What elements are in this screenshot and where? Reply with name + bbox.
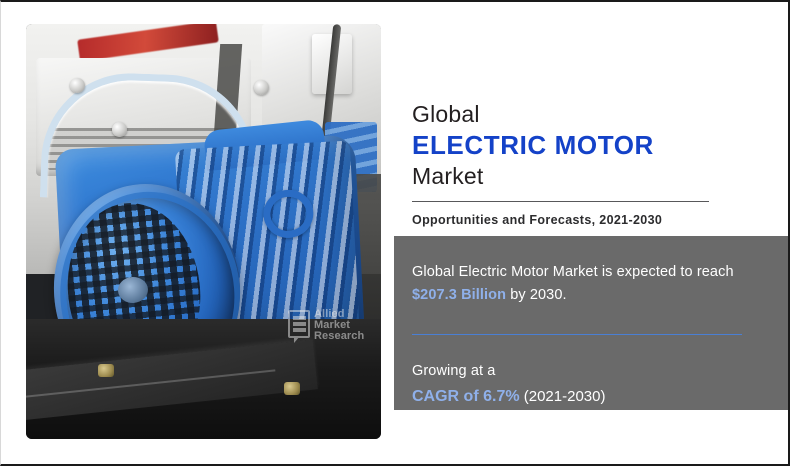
forecast-text-pre: Global Electric Motor Market is expected…	[412, 264, 734, 280]
forecast-text-post: by 2030.	[506, 287, 567, 303]
growth-label: Growing at a	[412, 361, 750, 383]
title-suffix: Market	[412, 162, 730, 190]
cagr-value: CAGR of 6.7%	[412, 388, 520, 405]
bolt-icon	[70, 78, 85, 93]
stats-panel: Global Electric Motor Market is expected…	[394, 236, 788, 410]
coiled-spring	[265, 393, 381, 433]
content-area: Global ELECTRIC MOTOR Market Opportuniti…	[394, 2, 788, 464]
red-machine-part	[77, 24, 219, 62]
infographic-card: Allied Market Research Global ELECTRIC M…	[0, 0, 790, 466]
subtitle: Opportunities and Forecasts, 2021-2030	[412, 213, 730, 227]
market-forecast-statement: Global Electric Motor Market is expected…	[412, 261, 750, 308]
product-photo: Allied Market Research	[26, 24, 381, 439]
cagr-statement: CAGR of 6.7% (2021-2030)	[412, 385, 750, 408]
machine-base	[26, 319, 381, 439]
title-divider	[412, 201, 709, 202]
bolt-icon	[112, 122, 127, 137]
bolt-icon	[254, 80, 269, 95]
cagr-period: (2021-2030)	[520, 388, 606, 405]
panel-divider	[412, 334, 742, 335]
title-prefix: Global	[412, 100, 730, 128]
electric-motor-image: Allied Market Research	[26, 24, 381, 439]
page-title: ELECTRIC MOTOR	[412, 129, 730, 161]
title-block: Global ELECTRIC MOTOR Market Opportuniti…	[412, 100, 730, 227]
base-bolt-icon	[98, 364, 114, 377]
stats-panel-inner: Global Electric Motor Market is expected…	[412, 261, 750, 408]
forecast-value: $207.3 Billion	[412, 287, 506, 303]
